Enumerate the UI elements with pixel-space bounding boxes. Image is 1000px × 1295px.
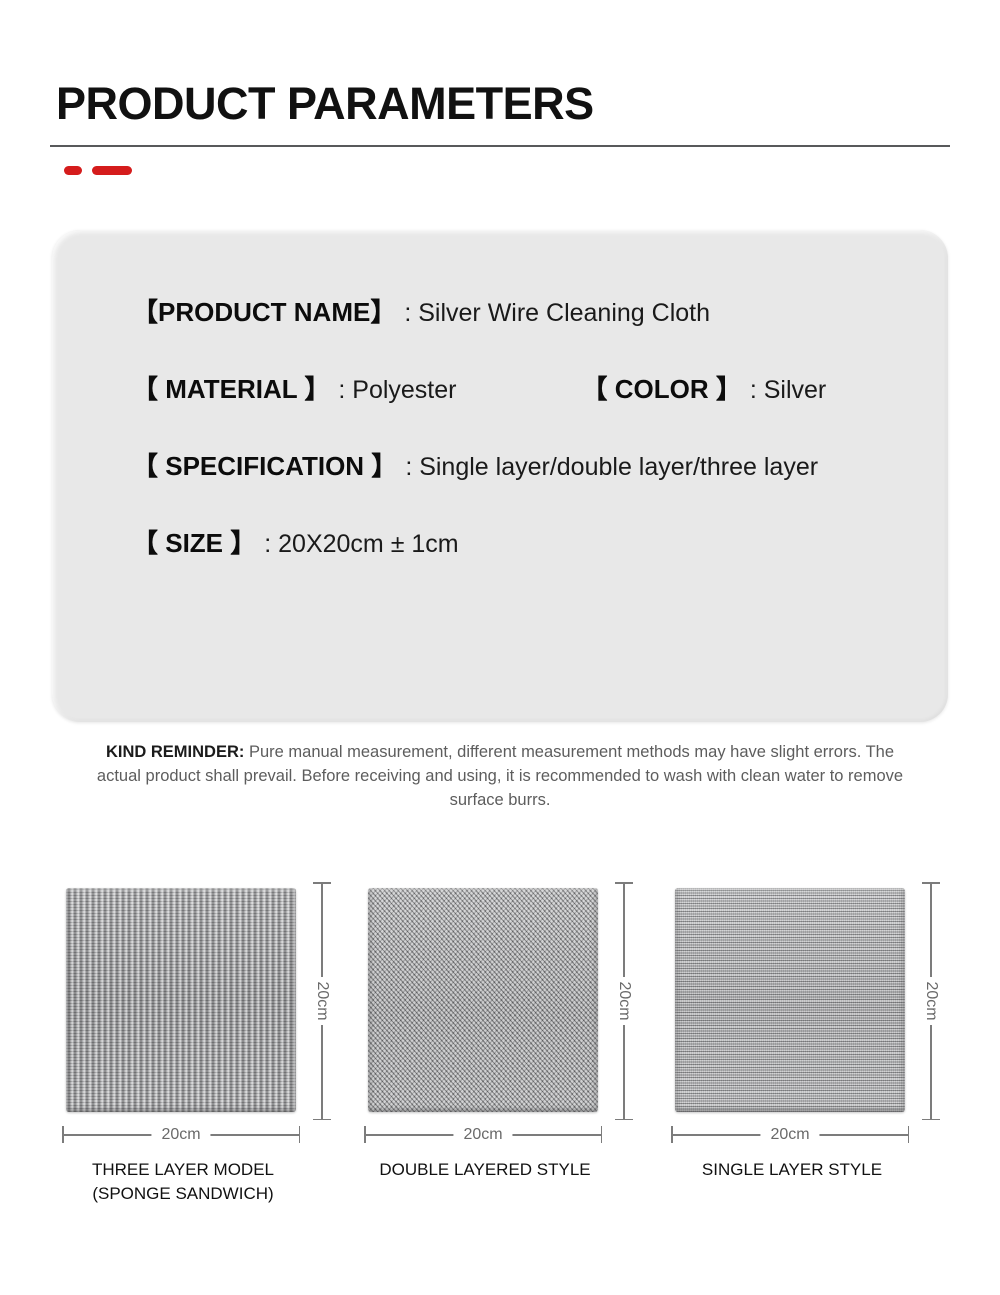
- kind-reminder: KIND REMINDER: Pure manual measurement, …: [85, 740, 915, 812]
- swatch-caption-line2: (SPONGE SANDWICH): [38, 1182, 328, 1206]
- spec-value-size: : 20X20cm ± 1cm: [264, 530, 458, 559]
- spec-list: 【PRODUCT NAME】 : Silver Wire Cleaning Cl…: [132, 292, 918, 560]
- swatch-image-double-layer: [368, 888, 598, 1112]
- swatch-image-single-layer: [675, 888, 905, 1112]
- accent-dash-short: [64, 166, 82, 175]
- swatch-cell-three-layer: 20cm 20cm THREE LAYER MODEL (SPONGE SAND…: [48, 876, 348, 1216]
- spec-key-product-name: 【PRODUCT NAME】: [132, 292, 396, 329]
- spec-key-material: 【 MATERIAL 】: [132, 369, 330, 406]
- dimension-width-label: 20cm: [151, 1126, 210, 1144]
- title-divider: [50, 145, 950, 147]
- dimension-cap-right: [299, 1126, 301, 1143]
- spec-value-specification: : Single layer/double layer/three layer: [405, 453, 818, 482]
- accent-dash-long: [92, 166, 132, 175]
- swatch-image-three-layer: [66, 888, 296, 1112]
- spec-pair-color: 【 COLOR 】 : Silver: [581, 369, 826, 406]
- swatch-edge-shading: [368, 888, 598, 1112]
- spec-value-material: : Polyester: [338, 376, 456, 405]
- spec-row-size: 【 SIZE 】 : 20X20cm ± 1cm: [132, 523, 918, 560]
- spec-row-product-name: 【PRODUCT NAME】 : Silver Wire Cleaning Cl…: [132, 292, 918, 329]
- page-title: PRODUCT PARAMETERS: [56, 78, 594, 130]
- dimension-cap-top: [922, 882, 940, 884]
- spec-row-material-color: 【 MATERIAL 】 : Polyester 【 COLOR 】 : Sil…: [132, 369, 918, 406]
- swatch-caption-single-layer: SINGLE LAYER STYLE: [647, 1158, 937, 1182]
- spec-key-color: 【 COLOR 】: [581, 369, 741, 406]
- swatch-cell-single-layer: 20cm 20cm SINGLE LAYER STYLE: [657, 876, 957, 1216]
- dimension-width-label: 20cm: [760, 1126, 819, 1144]
- dimension-vertical-double-layer: 20cm: [613, 882, 635, 1120]
- dimension-cap-top: [313, 882, 331, 884]
- dimension-cap-bottom: [615, 1119, 633, 1121]
- swatch-edge-shading: [66, 888, 296, 1112]
- product-info-card: 【PRODUCT NAME】 : Silver Wire Cleaning Cl…: [52, 230, 948, 722]
- dimension-horizontal-single-layer: 20cm: [671, 1124, 909, 1146]
- kind-reminder-label: KIND REMINDER:: [106, 743, 244, 761]
- accent-dashes: [64, 166, 132, 175]
- dimension-cap-right: [908, 1126, 910, 1143]
- dimension-cap-top: [615, 882, 633, 884]
- dimension-cap-right: [601, 1126, 603, 1143]
- dimension-cap-bottom: [922, 1119, 940, 1121]
- swatch-cell-double-layer: 20cm 20cm DOUBLE LAYERED STYLE: [350, 876, 650, 1216]
- dimension-height-label: 20cm: [612, 977, 636, 1025]
- dimension-cap-bottom: [313, 1119, 331, 1121]
- spec-value-color: : Silver: [750, 376, 826, 405]
- dimension-height-label: 20cm: [310, 977, 334, 1025]
- dimension-vertical-three-layer: 20cm: [311, 882, 333, 1120]
- dimension-cap-left: [671, 1126, 673, 1143]
- swatch-caption-line1: THREE LAYER MODEL: [92, 1160, 274, 1179]
- swatch-gallery: 20cm 20cm THREE LAYER MODEL (SPONGE SAND…: [0, 876, 1000, 1216]
- swatch-caption-three-layer: THREE LAYER MODEL (SPONGE SANDWICH): [38, 1158, 328, 1206]
- spec-value-product-name: : Silver Wire Cleaning Cloth: [404, 299, 710, 328]
- swatch-caption-line1: SINGLE LAYER STYLE: [702, 1160, 882, 1179]
- dimension-horizontal-double-layer: 20cm: [364, 1124, 602, 1146]
- spec-key-size: 【 SIZE 】: [132, 523, 256, 560]
- dimension-horizontal-three-layer: 20cm: [62, 1124, 300, 1146]
- product-parameters-page: PRODUCT PARAMETERS 【PRODUCT NAME】 : Silv…: [0, 0, 1000, 1295]
- dimension-width-label: 20cm: [453, 1126, 512, 1144]
- dimension-height-label: 20cm: [919, 977, 943, 1025]
- dimension-cap-left: [364, 1126, 366, 1143]
- dimension-cap-left: [62, 1126, 64, 1143]
- swatch-edge-shading: [675, 888, 905, 1112]
- spec-row-specification: 【 SPECIFICATION 】 : Single layer/double …: [132, 446, 918, 483]
- dimension-vertical-single-layer: 20cm: [920, 882, 942, 1120]
- swatch-caption-line1: DOUBLE LAYERED STYLE: [379, 1160, 590, 1179]
- spec-key-specification: 【 SPECIFICATION 】: [132, 446, 397, 483]
- swatch-caption-double-layer: DOUBLE LAYERED STYLE: [340, 1158, 630, 1182]
